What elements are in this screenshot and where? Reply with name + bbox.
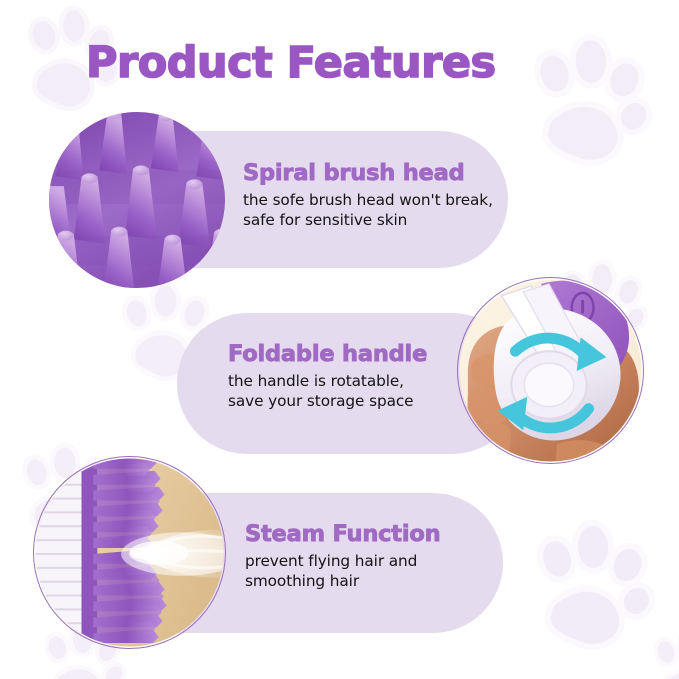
feature-description: prevent flying hair and smoothing hair <box>245 552 440 591</box>
paw-print-icon <box>518 508 668 658</box>
feature-heading: Steam Function <box>245 521 440 547</box>
feature-photo-foldable-handle <box>457 277 644 464</box>
steam-spray-illustration <box>34 457 225 648</box>
feature-text-foldable-handle: Foldable handle the handle is rotatable,… <box>228 341 427 411</box>
feature-heading: Spiral brush head <box>243 160 493 186</box>
feature-photo-spiral-brush-head <box>47 110 227 290</box>
brush-bristles-illustration <box>48 111 226 289</box>
feature-text-spiral-brush-head: Spiral brush head the sofe brush head wo… <box>243 160 493 230</box>
hand-holding-device-illustration <box>458 278 643 463</box>
feature-heading: Foldable handle <box>228 341 427 367</box>
feature-text-steam-function: Steam Function prevent flying hair and s… <box>245 521 440 591</box>
paw-print-icon <box>640 618 679 679</box>
feature-description: the handle is rotatable, save your stora… <box>228 372 427 411</box>
feature-description: the sofe brush head won't break, safe fo… <box>243 191 493 230</box>
paw-print-icon <box>515 22 667 174</box>
product-features-infographic: Product Features <box>0 0 679 679</box>
feature-photo-steam-function <box>33 456 226 649</box>
page-title: Product Features <box>86 38 496 88</box>
